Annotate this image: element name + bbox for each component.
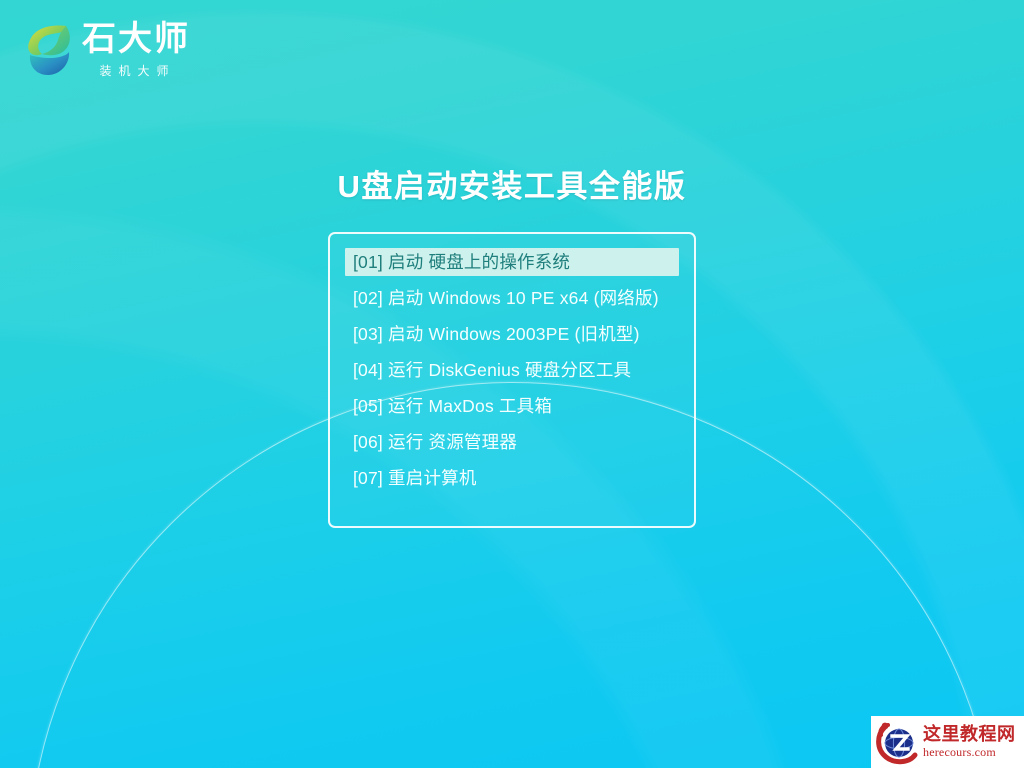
leaf-swirl-logo-icon bbox=[22, 18, 76, 80]
boot-menu-item-06[interactable]: [06] 运行 资源管理器 bbox=[345, 428, 679, 456]
boot-menu-item-05[interactable]: [05] 运行 MaxDos 工具箱 bbox=[345, 392, 679, 420]
watermark-text: 这里教程网 herecours.com bbox=[923, 725, 1016, 759]
page-title: U盘启动安装工具全能版 bbox=[0, 161, 1024, 206]
watermark-site-url: herecours.com bbox=[923, 745, 1016, 759]
boot-menu-item-01[interactable]: [01] 启动 硬盘上的操作系统 bbox=[345, 248, 679, 276]
brand-logo: 石大师 装机大师 bbox=[22, 18, 190, 80]
boot-menu-item-02[interactable]: [02] 启动 Windows 10 PE x64 (网络版) bbox=[345, 284, 679, 312]
boot-menu-item-04[interactable]: [04] 运行 DiskGenius 硬盘分区工具 bbox=[345, 356, 679, 384]
boot-menu-screen: 石大师 装机大师 U盘启动安装工具全能版 [01] 启动 硬盘上的操作系统 [0… bbox=[0, 0, 1024, 768]
z-globe-watermark-icon bbox=[875, 719, 921, 765]
watermark-site-name: 这里教程网 bbox=[923, 725, 1016, 745]
boot-menu-item-07[interactable]: [07] 重启计算机 bbox=[345, 464, 679, 492]
boot-menu-item-03[interactable]: [03] 启动 Windows 2003PE (旧机型) bbox=[345, 320, 679, 348]
brand-name: 石大师 bbox=[82, 22, 190, 58]
watermark: 这里教程网 herecours.com bbox=[871, 716, 1024, 768]
brand-tagline: 装机大师 bbox=[82, 62, 190, 79]
boot-menu-panel: [01] 启动 硬盘上的操作系统 [02] 启动 Windows 10 PE x… bbox=[328, 232, 696, 528]
brand-logo-text: 石大师 装机大师 bbox=[82, 18, 190, 79]
